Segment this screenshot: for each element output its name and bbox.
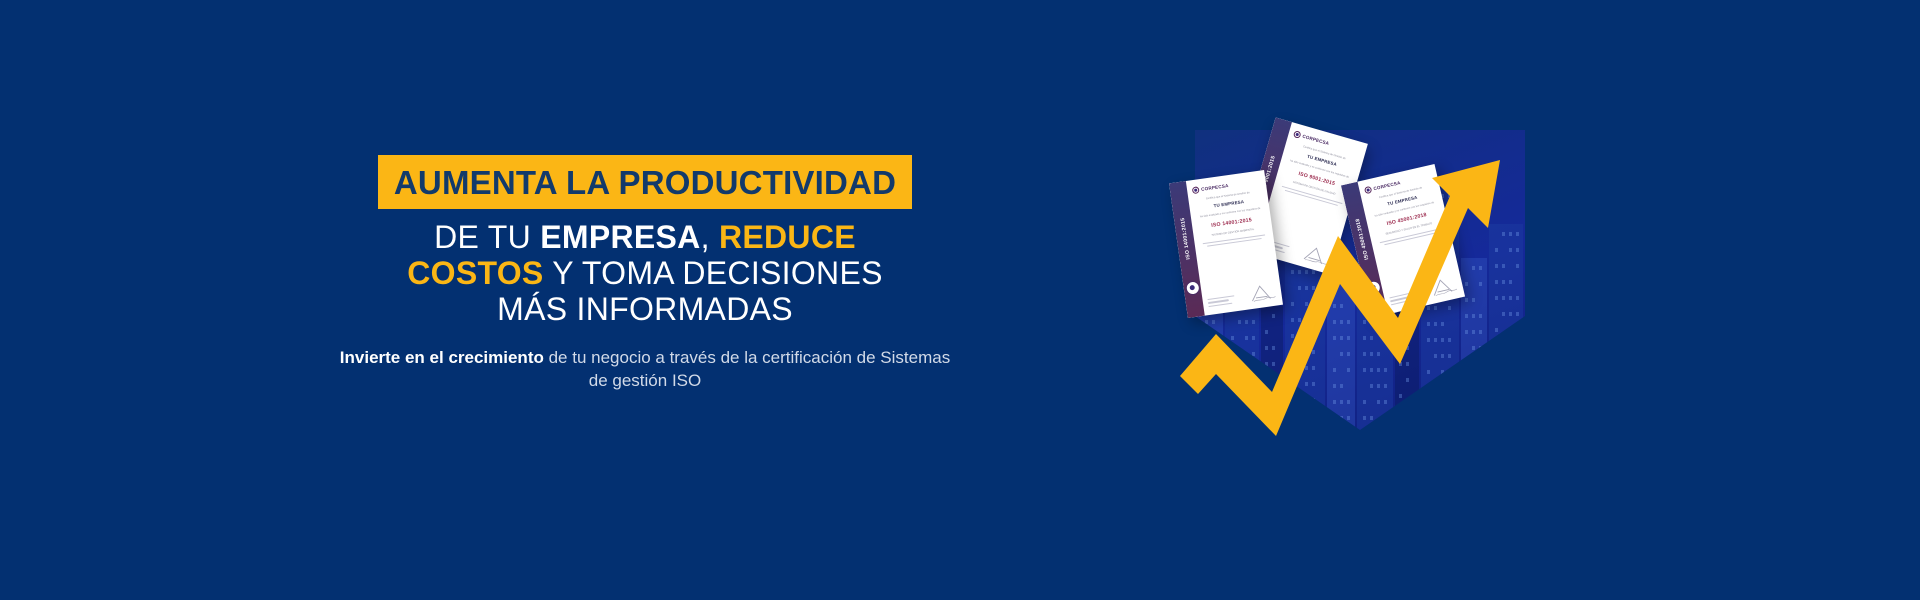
hero-illustration: ISO 14001:2015 CORPECSA Certifica que el… xyxy=(1150,0,1610,600)
subcopy-rest: de tu negocio a través de la certificaci… xyxy=(544,348,950,389)
hero-subcopy: Invierte en el crecimiento de tu negocio… xyxy=(310,347,980,392)
headline-empresa: EMPRESA xyxy=(540,219,700,255)
headline-highlight: AUMENTA LA PRODUCTIVIDAD xyxy=(378,155,912,209)
headline-line2-lead: DE TU xyxy=(434,219,540,255)
hero-copy: AUMENTA LA PRODUCTIVIDAD DE TU EMPRESA, … xyxy=(310,155,980,392)
headline-line2: DE TU EMPRESA, REDUCE xyxy=(434,219,856,255)
headline-line3-rest: Y TOMA DECISIONES xyxy=(544,255,883,291)
growth-arrow-icon xyxy=(1150,0,1610,600)
headline-reduce: REDUCE xyxy=(719,219,856,255)
headline-line4: MÁS INFORMADAS xyxy=(497,291,793,327)
subcopy-bold: Invierte en el crecimiento xyxy=(340,348,544,367)
headline-costos: COSTOS xyxy=(407,255,543,291)
headline-comma: , xyxy=(701,219,719,255)
headline-body: DE TU EMPRESA, REDUCE COSTOS Y TOMA DECI… xyxy=(310,220,980,327)
hero-banner: ISO 14001:2015 CORPECSA Certifica que el… xyxy=(0,0,1920,600)
headline-line3: COSTOS Y TOMA DECISIONES xyxy=(407,255,883,291)
